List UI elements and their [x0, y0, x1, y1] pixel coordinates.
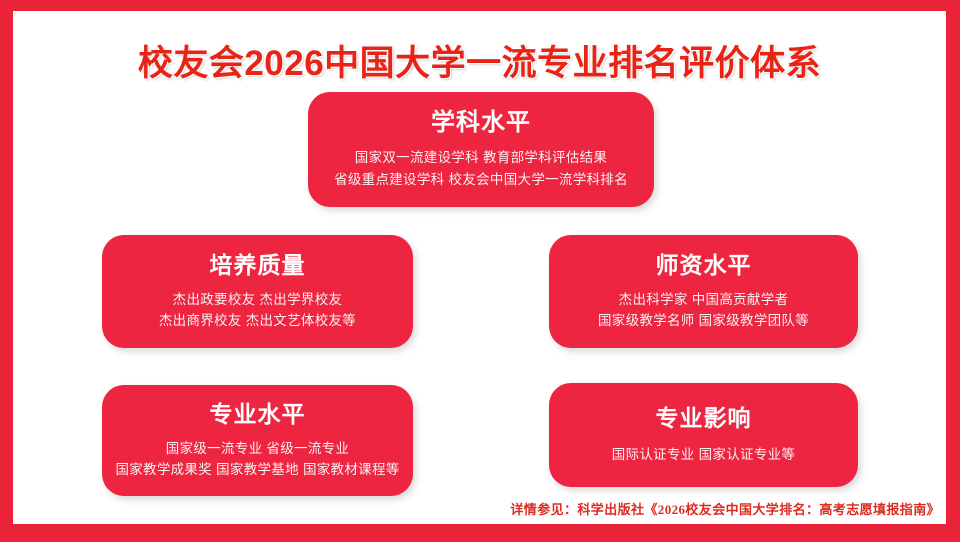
criteria-item: 国际认证专业 国家认证专业等 — [612, 444, 795, 466]
criteria-item: 国家级教学名师 国家级教学团队等 — [598, 310, 809, 332]
criteria-card-faculty[interactable]: 师资水平 杰出科学家 中国高贡献学者 国家级教学名师 国家级教学团队等 — [549, 235, 858, 348]
slide-canvas: 校友会2026中国大学一流专业排名评价体系 学科水平 国家双一流建设学科 教育部… — [13, 11, 946, 524]
criteria-item: 国家级一流专业 省级一流专业 — [115, 438, 399, 460]
criteria-item: 杰出商界校友 杰出文艺体校友等 — [159, 310, 356, 332]
criteria-card-title: 专业影响 — [656, 404, 752, 433]
criteria-card-items: 国家双一流建设学科 教育部学科评估结果 省级重点建设学科 校友会中国大学一流学科… — [334, 147, 628, 191]
criteria-card-title: 专业水平 — [210, 400, 306, 429]
page-title: 校友会2026中国大学一流专业排名评价体系 — [122, 40, 837, 88]
criteria-item: 国家教学成果奖 国家教学基地 国家教材课程等 — [115, 459, 399, 481]
criteria-item: 杰出科学家 中国高贡献学者 — [598, 289, 809, 311]
criteria-item: 国家双一流建设学科 教育部学科评估结果 — [334, 147, 628, 169]
criteria-card-discipline[interactable]: 学科水平 国家双一流建设学科 教育部学科评估结果 省级重点建设学科 校友会中国大… — [308, 92, 654, 207]
criteria-item: 杰出政要校友 杰出学界校友 — [159, 289, 356, 311]
criteria-card-title: 培养质量 — [210, 251, 306, 280]
criteria-card-major-level[interactable]: 专业水平 国家级一流专业 省级一流专业 国家教学成果奖 国家教学基地 国家教材课… — [102, 385, 413, 496]
slide-frame: 校友会2026中国大学一流专业排名评价体系 学科水平 国家双一流建设学科 教育部… — [0, 0, 960, 542]
criteria-card-major-impact[interactable]: 专业影响 国际认证专业 国家认证专业等 — [549, 383, 858, 487]
source-note: 详情参见：科学出版社《2026校友会中国大学排名：高考志愿填报指南》 — [510, 499, 940, 518]
criteria-item: 省级重点建设学科 校友会中国大学一流学科排名 — [334, 169, 628, 191]
criteria-card-title: 师资水平 — [656, 251, 752, 280]
criteria-card-items: 杰出政要校友 杰出学界校友 杰出商界校友 杰出文艺体校友等 — [159, 289, 356, 333]
criteria-card-items: 杰出科学家 中国高贡献学者 国家级教学名师 国家级教学团队等 — [598, 289, 809, 333]
criteria-card-cultivation[interactable]: 培养质量 杰出政要校友 杰出学界校友 杰出商界校友 杰出文艺体校友等 — [102, 235, 413, 348]
criteria-card-title: 学科水平 — [431, 108, 531, 138]
criteria-card-items: 国际认证专业 国家认证专业等 — [612, 444, 795, 466]
criteria-card-items: 国家级一流专业 省级一流专业 国家教学成果奖 国家教学基地 国家教材课程等 — [115, 438, 399, 482]
